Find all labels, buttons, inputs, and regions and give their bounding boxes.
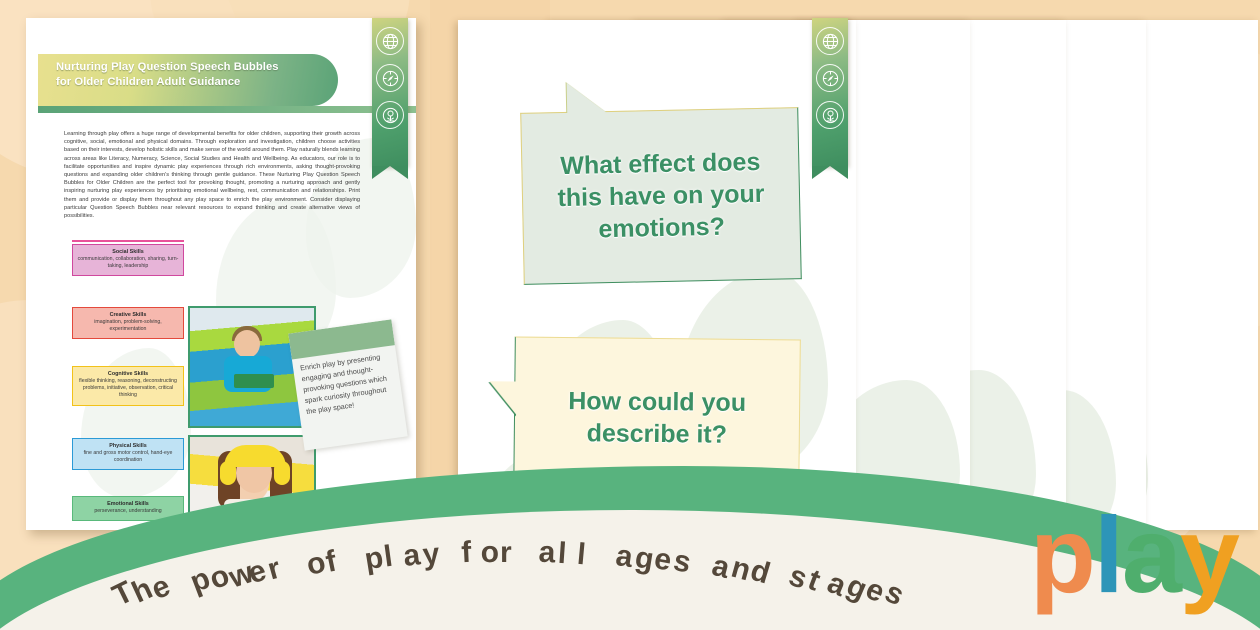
guidance-document[interactable]: Nurturing Play Question Speech Bubbles f… xyxy=(26,18,416,530)
bubble-tail xyxy=(489,381,517,415)
ribbon-badge-left xyxy=(372,18,408,166)
skill-box-physical: Physical Skills fine and gross motor con… xyxy=(72,438,184,470)
skill-desc: perseverance, understanding xyxy=(77,508,179,515)
compass-seal xyxy=(816,64,844,92)
bubble-tail xyxy=(567,82,608,114)
document-title-line1: Nurturing Play Question Speech Bubbles xyxy=(56,60,324,75)
skill-desc: communication, collaboration, sharing, t… xyxy=(77,256,179,270)
play-logo: p l a y xyxy=(1030,504,1238,600)
tree-seal xyxy=(816,101,844,129)
stacked-page-front[interactable]: What effect does this have on your emoti… xyxy=(458,20,856,530)
question-bubble-1-text: What effect does this have on your emoti… xyxy=(540,145,782,246)
question-bubble-2-text: How could you describe it? xyxy=(533,385,782,452)
skill-box-creative: Creative Skills imagination, problem-sol… xyxy=(72,307,184,339)
skill-title: Physical Skills xyxy=(77,443,179,449)
skill-title: Social Skills xyxy=(77,249,179,255)
skill-desc: imagination, problem-solving, experiment… xyxy=(77,319,179,333)
photo-detail xyxy=(234,374,274,388)
header-divider xyxy=(38,106,416,113)
logo-letter-p: p xyxy=(1030,511,1094,600)
globe-seal xyxy=(376,27,404,55)
tree-seal xyxy=(376,101,404,129)
photo-detail xyxy=(274,461,290,485)
skill-title: Cognitive Skills xyxy=(77,371,179,377)
logo-letter-a: a xyxy=(1122,511,1180,600)
compass-seal xyxy=(376,64,404,92)
globe-seal xyxy=(816,27,844,55)
skill-box-social: Social Skills communication, collaborati… xyxy=(72,244,184,276)
skill-title: Emotional Skills xyxy=(77,501,179,507)
document-title-line2: for Older Children Adult Guidance xyxy=(56,75,324,90)
poster-canvas: e What effect does this have on your emo… xyxy=(0,0,1260,630)
skill-title: Creative Skills xyxy=(77,312,179,318)
page-stack: e What effect does this have on your emo… xyxy=(458,20,1258,530)
sticky-note[interactable]: Enrich play by presenting engaging and t… xyxy=(288,319,407,450)
logo-letter-y: y xyxy=(1180,511,1238,600)
skill-desc: fine and gross motor control, hand-eye c… xyxy=(77,450,179,464)
ribbon-badge-right xyxy=(812,18,848,166)
photo-detail xyxy=(234,330,260,358)
section-divider xyxy=(72,240,184,242)
document-header: Nurturing Play Question Speech Bubbles f… xyxy=(38,54,338,106)
document-body-text: Learning through play offers a huge rang… xyxy=(64,130,360,220)
logo-letter-l: l xyxy=(1094,511,1122,600)
question-bubble-1[interactable]: What effect does this have on your emoti… xyxy=(520,107,802,285)
skill-box-cognitive: Cognitive Skills flexible thinking, reas… xyxy=(72,366,184,406)
skill-desc: flexible thinking, reasoning, deconstruc… xyxy=(77,378,179,400)
sticky-note-text: Enrich play by presenting engaging and t… xyxy=(299,350,398,417)
photo-detail xyxy=(220,461,236,485)
